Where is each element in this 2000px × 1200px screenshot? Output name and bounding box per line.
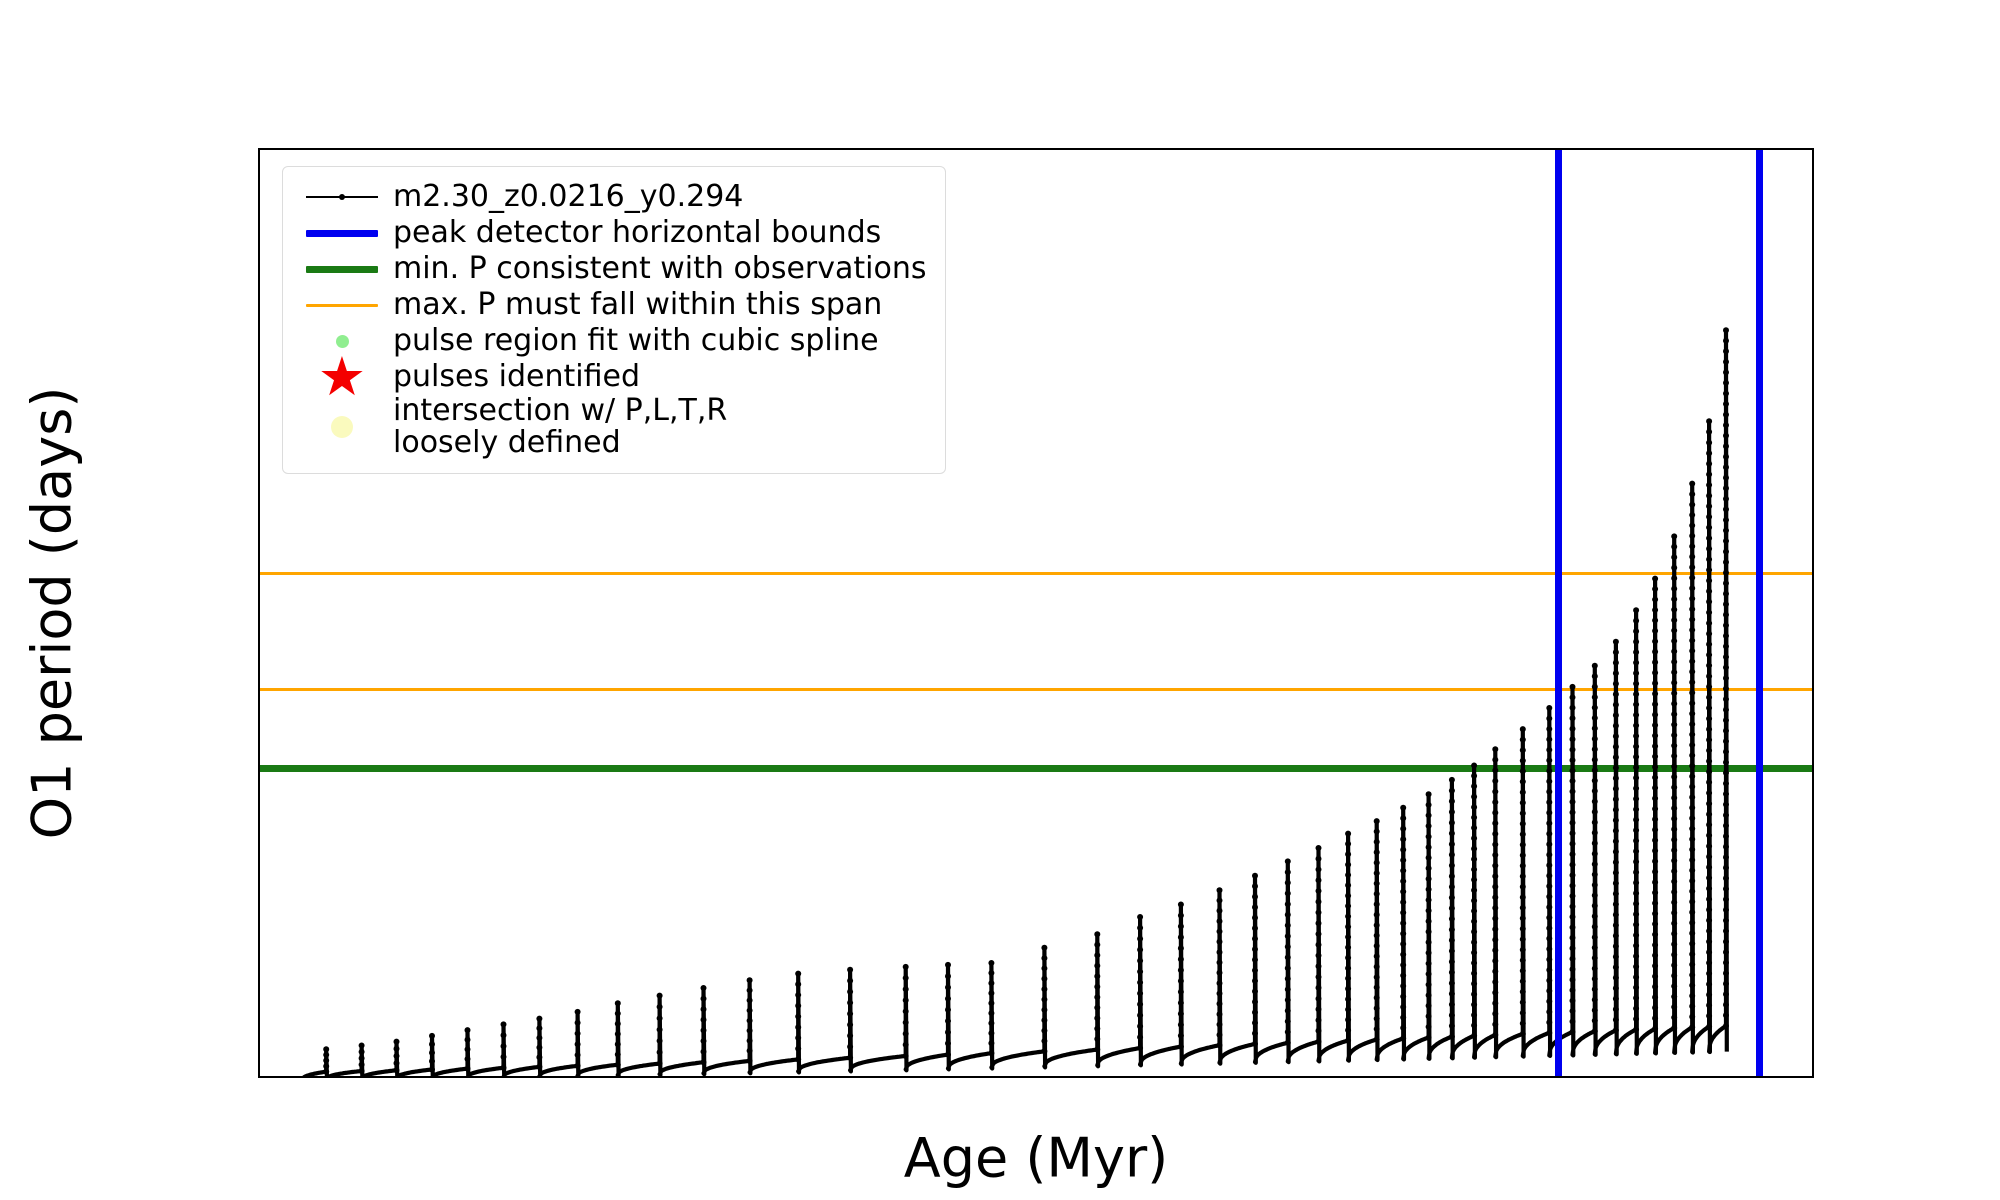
- x-tick-minor: [989, 1076, 992, 1078]
- legend-item-max-period-span[interactable]: max. P must fall within this span: [299, 287, 927, 323]
- x-tick-major: [565, 1076, 568, 1078]
- line-marker-icon: [299, 179, 385, 215]
- green-line-icon: [299, 251, 385, 287]
- legend-item-peak-bounds[interactable]: peak detector horizontal bounds: [299, 215, 927, 251]
- x-tick-minor: [1306, 1076, 1309, 1078]
- x-tick-minor: [724, 1076, 727, 1078]
- legend-item-model[interactable]: m2.30_z0.0216_y0.294: [299, 179, 927, 215]
- x-tick-minor: [1730, 1076, 1733, 1078]
- x-tick-minor: [618, 1076, 621, 1078]
- x-tick-minor: [1148, 1076, 1151, 1078]
- yellow-dot-icon: [299, 409, 385, 445]
- figure-canvas: O1 period (days) Age (Myr) 2004006008001…: [0, 0, 2000, 1200]
- blue-line-icon: [299, 215, 385, 251]
- x-tick-minor: [671, 1076, 674, 1078]
- legend-item-intersection[interactable]: intersection w/ P,L,T,R loosely defined: [299, 395, 927, 459]
- legend-item-spline[interactable]: pulse region fit with cubic spline: [299, 323, 927, 359]
- x-tick-major: [1095, 1076, 1098, 1078]
- legend-label-intersection: intersection w/ P,L,T,R loosely defined: [385, 395, 727, 459]
- x-axis-title: Age (Myr): [904, 1127, 1169, 1190]
- x-tick-major: [301, 1076, 304, 1078]
- y-axis-title: O1 period (days): [21, 387, 84, 840]
- legend-label-spline: pulse region fit with cubic spline: [385, 325, 879, 357]
- x-tick-minor: [1571, 1076, 1574, 1078]
- legend-label-max-period-span: max. P must fall within this span: [385, 289, 882, 321]
- legend-item-min-period[interactable]: min. P consistent with observations: [299, 251, 927, 287]
- x-tick-minor: [1412, 1076, 1415, 1078]
- orange-line-icon: [299, 287, 385, 323]
- legend-label-model: m2.30_z0.0216_y0.294: [385, 181, 743, 213]
- red-star-icon: ★: [299, 359, 385, 395]
- x-tick-minor: [936, 1076, 939, 1078]
- x-tick-minor: [1042, 1076, 1045, 1078]
- plot-area: 2004006008001000889.5890.0890.5891.0891.…: [258, 148, 1814, 1078]
- legend-label-min-period: min. P consistent with observations: [385, 253, 927, 285]
- x-tick-major: [1359, 1076, 1362, 1078]
- legend-label-peak-bounds: peak detector horizontal bounds: [385, 217, 881, 249]
- legend-label-pulses: pulses identified: [385, 361, 640, 393]
- x-tick-minor: [1518, 1076, 1521, 1078]
- x-tick-minor: [1783, 1076, 1786, 1078]
- x-tick-minor: [460, 1076, 463, 1078]
- reference-line-vertical: [1756, 150, 1763, 1076]
- x-tick-minor: [513, 1076, 516, 1078]
- legend-item-pulses[interactable]: ★ pulses identified: [299, 359, 927, 395]
- x-tick-minor: [354, 1076, 357, 1078]
- x-tick-major: [1624, 1076, 1627, 1078]
- x-tick-minor: [1253, 1076, 1256, 1078]
- x-tick-minor: [1465, 1076, 1468, 1078]
- legend-box[interactable]: m2.30_z0.0216_y0.294 peak detector horiz…: [282, 166, 946, 474]
- x-tick-minor: [407, 1076, 410, 1078]
- x-tick-minor: [1677, 1076, 1680, 1078]
- x-tick-minor: [777, 1076, 780, 1078]
- x-tick-minor: [1201, 1076, 1204, 1078]
- x-tick-major: [830, 1076, 833, 1078]
- reference-line-vertical: [1555, 150, 1562, 1076]
- x-tick-minor: [883, 1076, 886, 1078]
